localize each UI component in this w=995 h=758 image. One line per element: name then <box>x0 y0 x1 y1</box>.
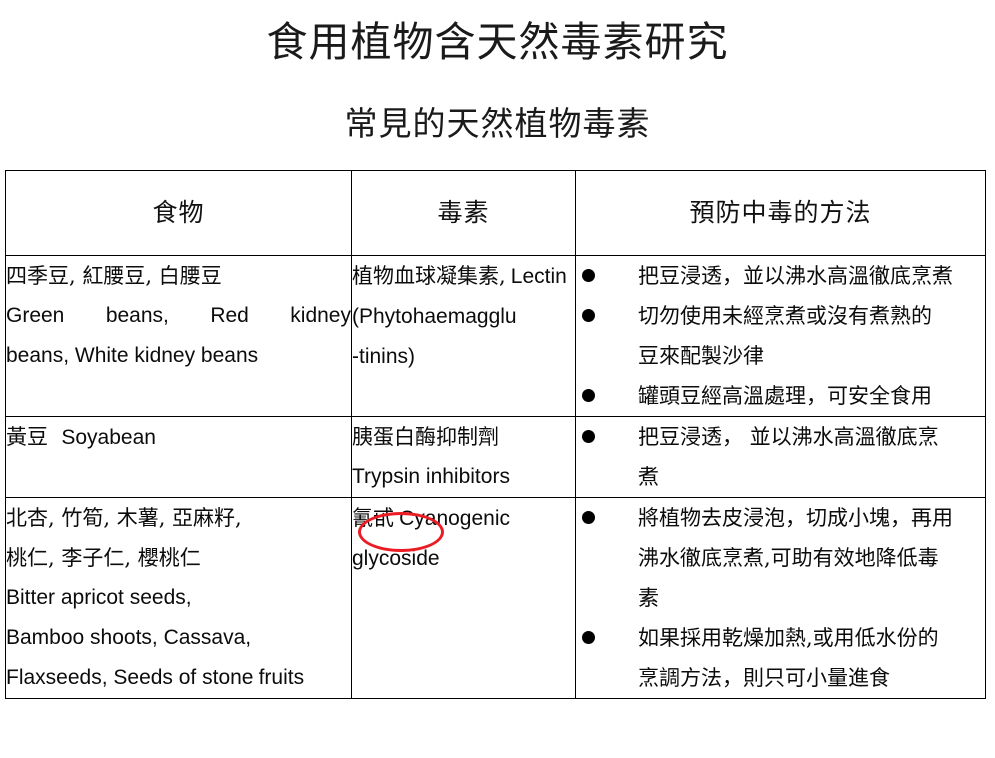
bullet-icon <box>582 511 595 524</box>
food-2-english: Soyabean <box>61 426 156 449</box>
column-header-toxin-label: 毒素 <box>352 198 575 228</box>
list-item: 罐頭豆經高溫處理，可安全食用 <box>576 376 985 416</box>
bullet-icon <box>582 631 595 644</box>
column-header-prevention: 預防中毒的方法 <box>576 171 986 256</box>
list-item: 把豆浸透，並以沸水高溫徹底烹煮 <box>576 256 985 296</box>
food-3-chinese-line1: 北杏, 竹筍, 木薯, 亞麻籽, <box>6 506 242 530</box>
bullet-icon <box>582 309 595 322</box>
prevention-1-b2-l2: 豆來配製沙律 <box>638 336 985 376</box>
cell-food-3: 北杏, 竹筍, 木薯, 亞麻籽, 桃仁, 李子仁, 櫻桃仁 Bitter apr… <box>6 498 352 699</box>
list-item: 切勿使用未經烹煮或沒有煮熟的 豆來配製沙律 <box>576 296 985 376</box>
prevention-3-b2-l2: 烹調方法，則只可小量進食 <box>638 658 985 698</box>
prevention-list-1: 把豆浸透，並以沸水高溫徹底烹煮 切勿使用未經烹煮或沒有煮熟的 豆來配製沙律 罐頭… <box>576 256 985 416</box>
toxin-1-english-line3: -tinins) <box>352 345 415 368</box>
food-1-english-line2: beans, White kidney beans <box>6 344 258 367</box>
table-header-row: 食物 毒素 預防中毒的方法 <box>6 171 986 256</box>
list-item: 把豆浸透， 並以沸水高溫徹底烹 煮 <box>576 417 985 497</box>
bullet-icon <box>582 430 595 443</box>
cell-prevention-1: 把豆浸透，並以沸水高溫徹底烹煮 切勿使用未經烹煮或沒有煮熟的 豆來配製沙律 罐頭… <box>576 256 986 417</box>
page-title: 食用植物含天然毒素研究 <box>0 18 995 66</box>
cell-toxin-2: 胰蛋白酶抑制劑 Trypsin inhibitors <box>352 417 576 498</box>
food-2-line: 黃豆 Soyabean <box>6 425 156 449</box>
food-3-english-line3: Flaxseeds, Seeds of stone <box>6 666 253 689</box>
column-header-food-label: 食物 <box>6 198 351 228</box>
cell-food-1: 四季豆, 紅腰豆, 白腰豆 Green beans, Red kidney be… <box>6 256 352 417</box>
prevention-list-2: 把豆浸透， 並以沸水高溫徹底烹 煮 <box>576 417 985 497</box>
cell-food-2: 黃豆 Soyabean <box>6 417 352 498</box>
list-item: 如果採用乾燥加熱,或用低水份的 烹調方法，則只可小量進食 <box>576 618 985 698</box>
prevention-1-b2-l1: 切勿使用未經烹煮或沒有煮熟的 <box>638 296 985 336</box>
document-page: 食用植物含天然毒素研究 常見的天然植物毒素 食物 毒素 預防中毒的方法 <box>0 0 995 758</box>
column-header-toxin: 毒素 <box>352 171 576 256</box>
food-3-english-line1: Bitter apricot seeds, <box>6 586 192 609</box>
food-1-chinese: 四季豆, 紅腰豆, 白腰豆 <box>6 264 222 288</box>
column-header-food: 食物 <box>6 171 352 256</box>
toxin-1-english-line1: Lectin <box>511 265 567 288</box>
toxin-2-chinese: 胰蛋白酶抑制劑 <box>352 425 499 449</box>
food-2-chinese: 黃豆 <box>6 425 48 449</box>
toxin-2-english-line1: Trypsin inhibitors <box>352 465 510 488</box>
table-row: 四季豆, 紅腰豆, 白腰豆 Green beans, Red kidney be… <box>6 256 986 417</box>
toxin-3-chinese: 氰甙 <box>352 506 394 530</box>
cell-toxin-1: 植物血球凝集素, Lectin (Phytohaemagglu -tinins) <box>352 256 576 417</box>
prevention-3-b1-l3: 素 <box>638 578 985 618</box>
natural-plant-toxins-table: 食物 毒素 預防中毒的方法 四季豆, 紅腰豆, 白腰豆 Green beans,… <box>5 170 986 699</box>
prevention-3-b1-l1: 將植物去皮浸泡，切成小塊，再用 <box>638 498 985 538</box>
prevention-1-b3-l1: 罐頭豆經高溫處理，可安全食用 <box>638 376 985 416</box>
food-3-english-line2: Bamboo shoots, Cassava, <box>6 626 251 649</box>
food-3-chinese-line2: 桃仁, 李子仁, 櫻桃仁 <box>6 546 201 570</box>
prevention-list-3: 將植物去皮浸泡，切成小塊，再用 沸水徹底烹煮,可助有效地降低毒 素 如果採用乾燥… <box>576 498 985 698</box>
bullet-icon <box>582 389 595 402</box>
food-1-english-line1: Green beans, Red kidney <box>6 296 351 336</box>
cell-prevention-2: 把豆浸透， 並以沸水高溫徹底烹 煮 <box>576 417 986 498</box>
bullet-icon <box>582 269 595 282</box>
cell-prevention-3: 將植物去皮浸泡，切成小塊，再用 沸水徹底烹煮,可助有效地降低毒 素 如果採用乾燥… <box>576 498 986 699</box>
toxin-3-english-line2: glycoside <box>352 547 440 570</box>
column-header-prevention-label: 預防中毒的方法 <box>576 198 985 228</box>
poison-table-wrapper: 食物 毒素 預防中毒的方法 四季豆, 紅腰豆, 白腰豆 Green beans,… <box>5 170 985 699</box>
toxin-1-english-line2: (Phytohaemagglu <box>352 305 517 328</box>
prevention-2-b1-l1: 把豆浸透， 並以沸水高溫徹底烹 <box>638 417 985 457</box>
toxin-3-english-line1: Cyanogenic <box>399 507 510 530</box>
page-subtitle: 常見的天然植物毒素 <box>0 104 995 144</box>
toxin-1-chinese: 植物血球凝集素, <box>352 264 506 288</box>
table-row: 黃豆 Soyabean 胰蛋白酶抑制劑 Trypsin inhibitors 把… <box>6 417 986 498</box>
prevention-3-b2-l1: 如果採用乾燥加熱,或用低水份的 <box>638 618 985 658</box>
cell-toxin-3: 氰甙 Cyanogenic glycoside <box>352 498 576 699</box>
table-row: 北杏, 竹筍, 木薯, 亞麻籽, 桃仁, 李子仁, 櫻桃仁 Bitter apr… <box>6 498 986 699</box>
prevention-1-b1-l1: 把豆浸透，並以沸水高溫徹底烹煮 <box>638 256 985 296</box>
prevention-2-b1-l2: 煮 <box>638 457 985 497</box>
prevention-3-b1-l2: 沸水徹底烹煮,可助有效地降低毒 <box>638 538 985 578</box>
list-item: 將植物去皮浸泡，切成小塊，再用 沸水徹底烹煮,可助有效地降低毒 素 <box>576 498 985 618</box>
food-3-english-line4: fruits <box>259 666 305 689</box>
